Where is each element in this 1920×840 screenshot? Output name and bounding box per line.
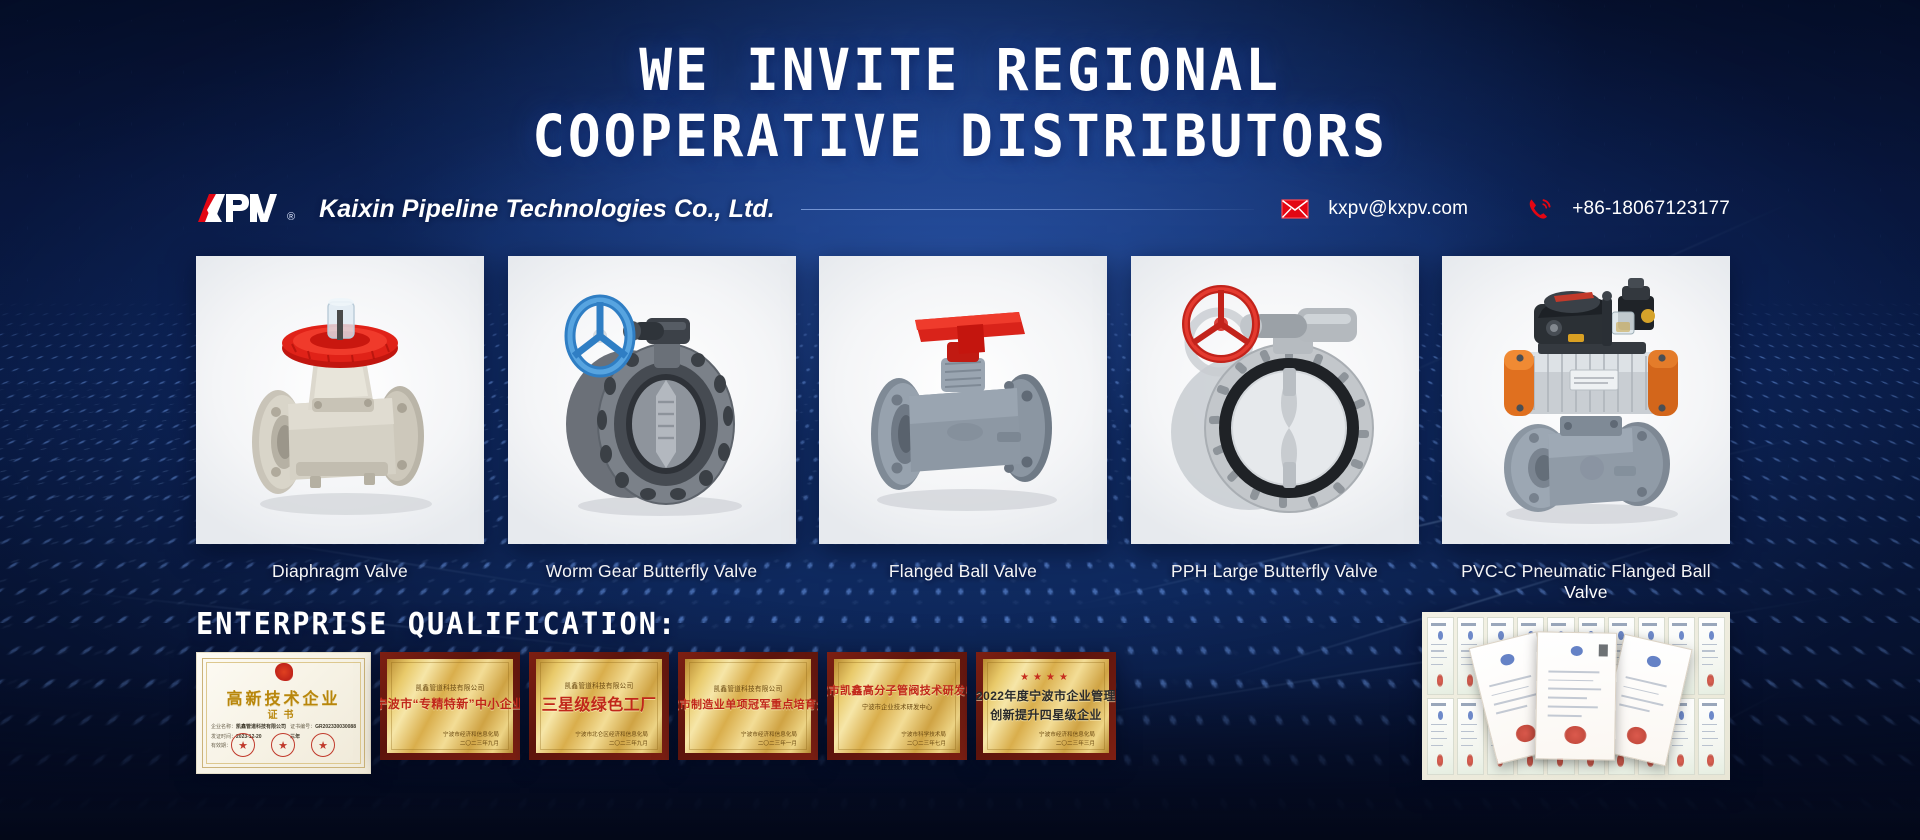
kxpv-logo-icon: ® (196, 192, 295, 226)
official-seal: ★ (231, 733, 255, 757)
product-card[interactable]: Worm Gear Butterfly Valve (508, 256, 796, 603)
plaque-issuer: 宁波市经济和信息化局 (741, 731, 797, 739)
product-card[interactable]: PVC-C Pneumatic Flanged Ball Valve (1442, 256, 1730, 603)
plaque-title: 宁波市“专精特新”中小企业 (380, 697, 520, 713)
cert-field-company-label: 企业名称： (211, 724, 236, 730)
headline-line-2: COOPERATIVE DISTRIBUTORS (58, 106, 1863, 166)
headline: WE INVITE REGIONAL COOPERATIVE DISTRIBUT… (0, 40, 1920, 166)
product-card[interactable]: PPH Large Butterfly Valve (1131, 256, 1419, 603)
award-plaque: 宁波市凯鑫高分子管阀技术研发中心 宁波市企业技术研发中心 宁波市科学技术局 二〇… (827, 652, 967, 760)
qualification-plaques: 高新技术企业 证书 企业名称：凯鑫管道科技有限公司 发证时间：2023-12-2… (196, 652, 1116, 774)
award-plaque: 凯鑫管道科技有限公司 宁波市“专精特新”中小企业 宁波市经济和信息化局 二〇二三… (380, 652, 520, 760)
high-tech-enterprise-certificate: 高新技术企业 证书 企业名称：凯鑫管道科技有限公司 发证时间：2023-12-2… (196, 652, 371, 774)
official-seal: ★ (311, 733, 335, 757)
phone-icon (1524, 196, 1554, 222)
product-gallery: Diaphragm Valve (196, 256, 1730, 603)
plaque-date: 二〇二三年三月 (1056, 740, 1095, 748)
email-icon (1280, 196, 1310, 222)
product-card[interactable]: Diaphragm Valve (196, 256, 484, 603)
plaque-date: 二〇二三年一月 (758, 740, 797, 748)
plaque-title: 三星级绿色工厂 (542, 695, 657, 716)
plaque-date: 二〇二三年九月 (460, 740, 499, 748)
bottom-reflection (0, 780, 1920, 840)
brand-contact-row: ® Kaixin Pipeline Technologies Co., Ltd.… (0, 186, 1920, 232)
plaque-title: 2022年度宁波市企业管理 (976, 689, 1116, 705)
patent-certificate-thumb (1457, 698, 1484, 776)
patent-certificate-wall (1422, 612, 1730, 780)
contact-block: kxpv@kxpv.com +86-18067123177 (1280, 196, 1730, 222)
plaque-title: 宁波市制造业单项冠军重点培育企业 (678, 698, 818, 713)
brand-block: ® Kaixin Pipeline Technologies Co., Ltd. (196, 192, 775, 226)
product-label: Flanged Ball Valve (819, 561, 1107, 582)
plaque-star-rating: ★★★★ (1020, 672, 1072, 683)
official-seal: ★ (271, 733, 295, 757)
plaque-subtitle: 宁波市企业技术研发中心 (862, 702, 932, 711)
plaque-date: 二〇二三年七月 (907, 740, 946, 748)
plaque-date: 二〇二三年九月 (609, 740, 648, 748)
award-plaque: 凯鑫管道科技有限公司 三星级绿色工厂 宁波市北仑区经济和信息化局 二〇二三年九月 (529, 652, 669, 760)
headline-line-1: WE INVITE REGIONAL (58, 40, 1863, 100)
distributor-invitation-banner: WE INVITE REGIONAL COOPERATIVE DISTRIBUT… (0, 0, 1920, 840)
award-plaque: ★★★★ 2022年度宁波市企业管理 创新提升四星级企业 宁波市经济和信息化局 … (976, 652, 1116, 760)
pvcc-pneumatic-flanged-ball-valve-photo (1442, 256, 1730, 544)
plaque-issuer: 宁波市经济和信息化局 (443, 731, 499, 739)
pph-large-butterfly-valve-photo (1131, 256, 1419, 544)
contact-email[interactable]: kxpv@kxpv.com (1280, 196, 1468, 222)
qualification-title: ENTERPRISE QUALIFICATION: (196, 607, 677, 642)
product-card[interactable]: Flanged Ball Valve (819, 256, 1107, 603)
product-label: PPH Large Butterfly Valve (1131, 561, 1419, 582)
plaque-title: 宁波市凯鑫高分子管阀技术研发中心 (827, 684, 967, 699)
worm-gear-butterfly-valve-photo (508, 256, 796, 544)
award-plaque: 凯鑫管道科技有限公司 宁波市制造业单项冠军重点培育企业 宁波市经济和信息化局 二… (678, 652, 818, 760)
company-name: Kaixin Pipeline Technologies Co., Ltd. (319, 195, 775, 224)
patent-certificate-thumb (1427, 698, 1454, 776)
patent-certificate-thumb (1698, 617, 1725, 695)
flanged-ball-valve-photo (819, 256, 1107, 544)
diaphragm-valve-photo (196, 256, 484, 544)
certificate-subtitle: 证书 (197, 706, 370, 721)
cert-field-no-value: GR202330030088 (315, 724, 356, 730)
product-label: Diaphragm Valve (196, 561, 484, 582)
product-label: Worm Gear Butterfly Valve (508, 561, 796, 582)
contact-phone[interactable]: +86-18067123177 (1524, 196, 1730, 222)
plaque-org: 凯鑫管道科技有限公司 (565, 680, 634, 690)
cert-field-no-label: 证书编号： (290, 724, 315, 730)
plaque-issuer: 宁波市科学技术局 (901, 731, 946, 739)
floating-certificate (1535, 631, 1617, 760)
patent-certificate-thumb (1698, 698, 1725, 776)
product-label: PVC-C Pneumatic Flanged Ball Valve (1442, 561, 1730, 603)
plaque-issuer: 宁波市经济和信息化局 (1039, 731, 1095, 739)
cert-field-company-value: 凯鑫管道科技有限公司 (236, 724, 286, 730)
contact-phone-label: +86-18067123177 (1572, 198, 1730, 220)
plaque-org: 凯鑫管道科技有限公司 (714, 683, 783, 693)
divider-line (801, 209, 1255, 210)
registered-trademark-symbol: ® (287, 211, 295, 223)
plaque-org: 凯鑫管道科技有限公司 (416, 682, 485, 692)
contact-email-label: kxpv@kxpv.com (1328, 198, 1468, 220)
emblem-icon (275, 663, 293, 681)
patent-certificate-thumb (1427, 617, 1454, 695)
plaque-subtitle: 创新提升四星级企业 (990, 708, 1102, 724)
cert-field-valid-label: 有效期： (211, 743, 231, 749)
plaque-issuer: 宁波市北仑区经济和信息化局 (575, 731, 648, 739)
